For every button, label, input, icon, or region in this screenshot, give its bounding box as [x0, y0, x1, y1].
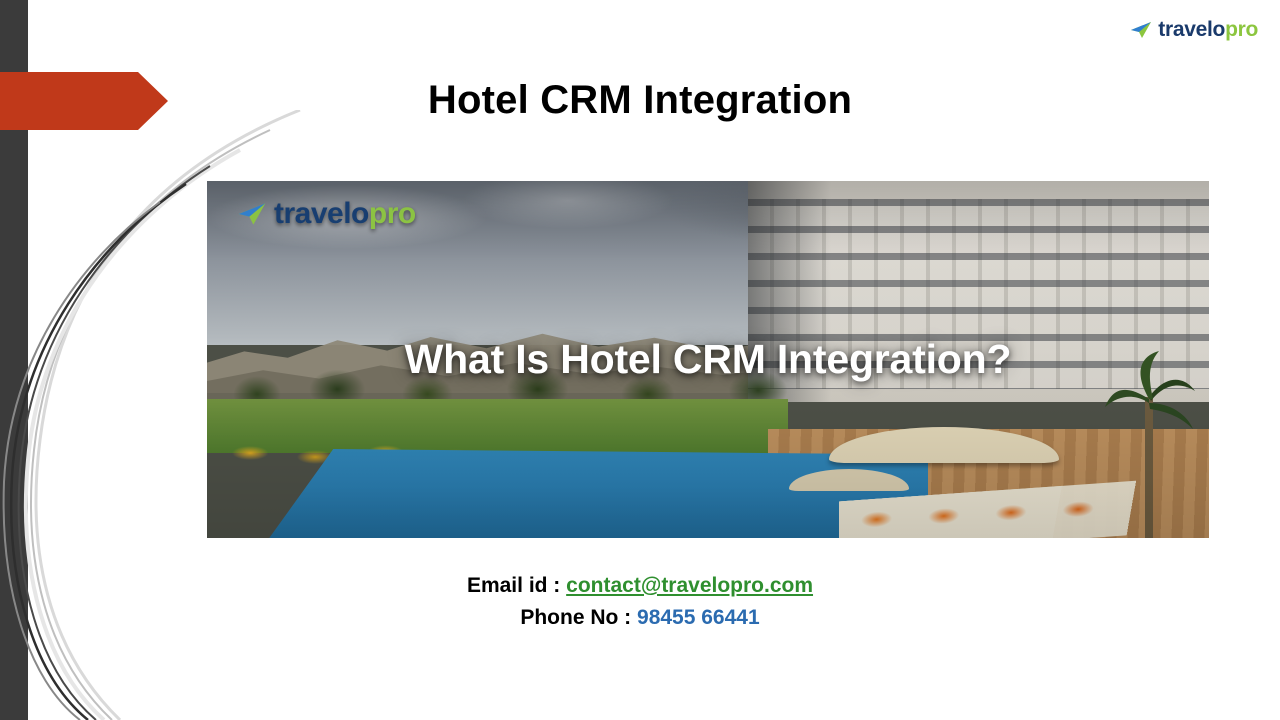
slide-canvas: travelopro Hotel CRM Integration — [0, 0, 1280, 720]
brand-wordmark: travelopro — [1158, 18, 1258, 42]
phone-label: Phone No : — [520, 606, 631, 629]
brand-logo: travelopro — [1130, 18, 1258, 42]
contact-email-line: Email id : contact@travelopro.com — [0, 570, 1280, 602]
email-link[interactable]: contact@travelopro.com — [566, 574, 813, 597]
hero-image: travelopro What Is Hotel CRM Integration… — [207, 181, 1209, 538]
hero-brand-logo: travelopro — [237, 197, 416, 231]
brand-wordmark-part1: travelo — [1158, 18, 1225, 41]
hero-wordmark-part1: travelo — [274, 197, 369, 230]
contact-block: Email id : contact@travelopro.com Phone … — [0, 570, 1280, 634]
paper-plane-icon — [1130, 21, 1152, 39]
hero-wordmark-part2: pro — [369, 197, 416, 230]
phone-value: 98455 66441 — [637, 606, 760, 629]
hero-brand-wordmark: travelopro — [274, 197, 416, 231]
page-title: Hotel CRM Integration — [0, 78, 1280, 123]
email-label: Email id : — [467, 574, 560, 597]
brand-wordmark-part2: pro — [1225, 18, 1258, 41]
contact-phone-line: Phone No : 98455 66441 — [0, 602, 1280, 634]
hero-headline: What Is Hotel CRM Integration? — [207, 336, 1209, 383]
hero-paper-plane-icon — [237, 202, 267, 226]
